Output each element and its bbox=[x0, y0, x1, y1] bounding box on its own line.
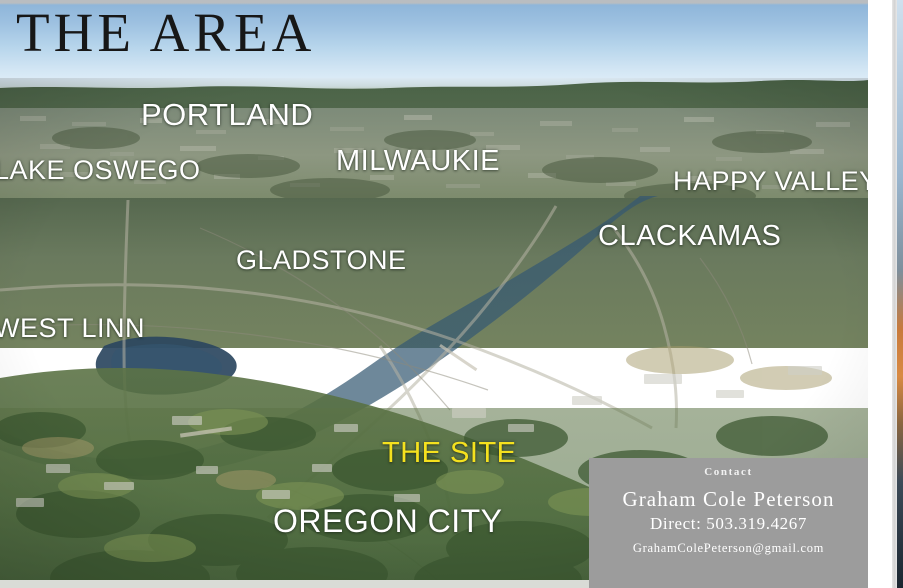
map-label-happy-valley: HAPPY VALLEY bbox=[673, 166, 868, 197]
contact-phone[interactable]: Direct: 503.319.4267 bbox=[589, 513, 868, 535]
map-label-gladstone: GLADSTONE bbox=[236, 245, 407, 276]
map-label-portland: PORTLAND bbox=[141, 97, 313, 133]
contact-card: Contact Graham Cole Peterson Direct: 503… bbox=[589, 458, 868, 588]
slide-canvas: THE AREA bbox=[0, 0, 868, 588]
slide-gutter bbox=[868, 0, 892, 588]
contact-name: Graham Cole Peterson bbox=[589, 486, 868, 512]
map-label-oregon-city: OREGON CITY bbox=[273, 503, 503, 540]
map-label-lake-oswego: LAKE OSWEGO bbox=[0, 155, 201, 186]
contact-email[interactable]: GrahamColePeterson@gmail.com bbox=[589, 539, 868, 557]
map-label-west-linn: WEST LINN bbox=[0, 313, 145, 344]
page-title: THE AREA bbox=[16, 2, 315, 64]
adjacent-slide-preview[interactable] bbox=[897, 0, 903, 588]
slide-header: THE AREA bbox=[0, 0, 868, 84]
contact-heading: Contact bbox=[589, 466, 868, 478]
map-label-milwaukie: MILWAUKIE bbox=[336, 145, 500, 178]
map-label-clackamas: CLACKAMAS bbox=[598, 220, 781, 253]
map-label-the-site: THE SITE bbox=[382, 437, 517, 470]
slide-page: THE AREA bbox=[0, 0, 903, 588]
